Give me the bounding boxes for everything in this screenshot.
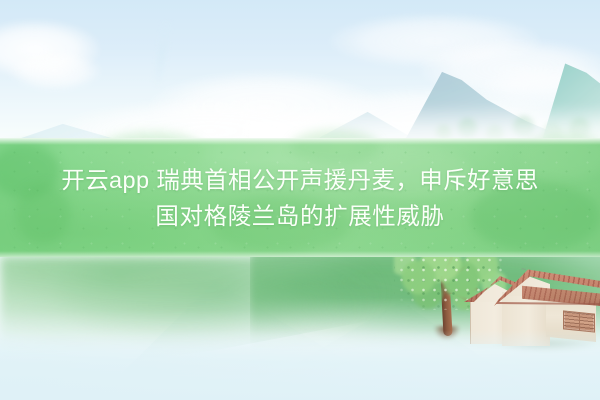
- cloud-icon: [10, 52, 100, 90]
- band-texture-speckles: [0, 138, 600, 257]
- band-bottom-fade: [0, 251, 600, 257]
- window-mullion: [579, 313, 580, 330]
- headline-band: [0, 138, 600, 257]
- band-top-fade: [0, 138, 600, 145]
- article-thumbnail-image: ~ 开云app 瑞典首相公开声援丹麦，申斥好意思 国对格陵兰岛的扩展性: [0, 0, 600, 400]
- bottom-mist-overlay: [0, 330, 600, 400]
